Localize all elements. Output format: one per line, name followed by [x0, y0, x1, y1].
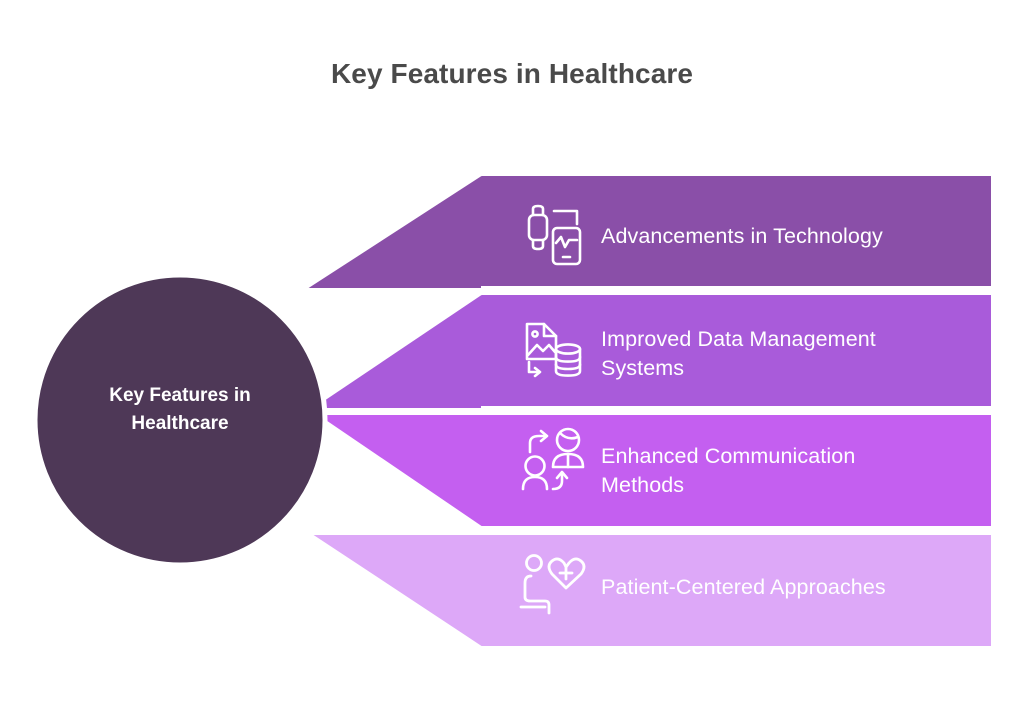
page-title: Key Features in Healthcare	[0, 57, 1024, 91]
band-label-4[interactable]: Patient-Centered Approaches	[601, 573, 886, 602]
band-label-3[interactable]: Enhanced Communication Methods	[601, 442, 911, 500]
hub-label: Key Features inHealthcare	[62, 382, 298, 437]
band-label-2[interactable]: Improved Data Management Systems	[601, 325, 931, 383]
band-label-1[interactable]: Advancements in Technology	[601, 222, 883, 251]
